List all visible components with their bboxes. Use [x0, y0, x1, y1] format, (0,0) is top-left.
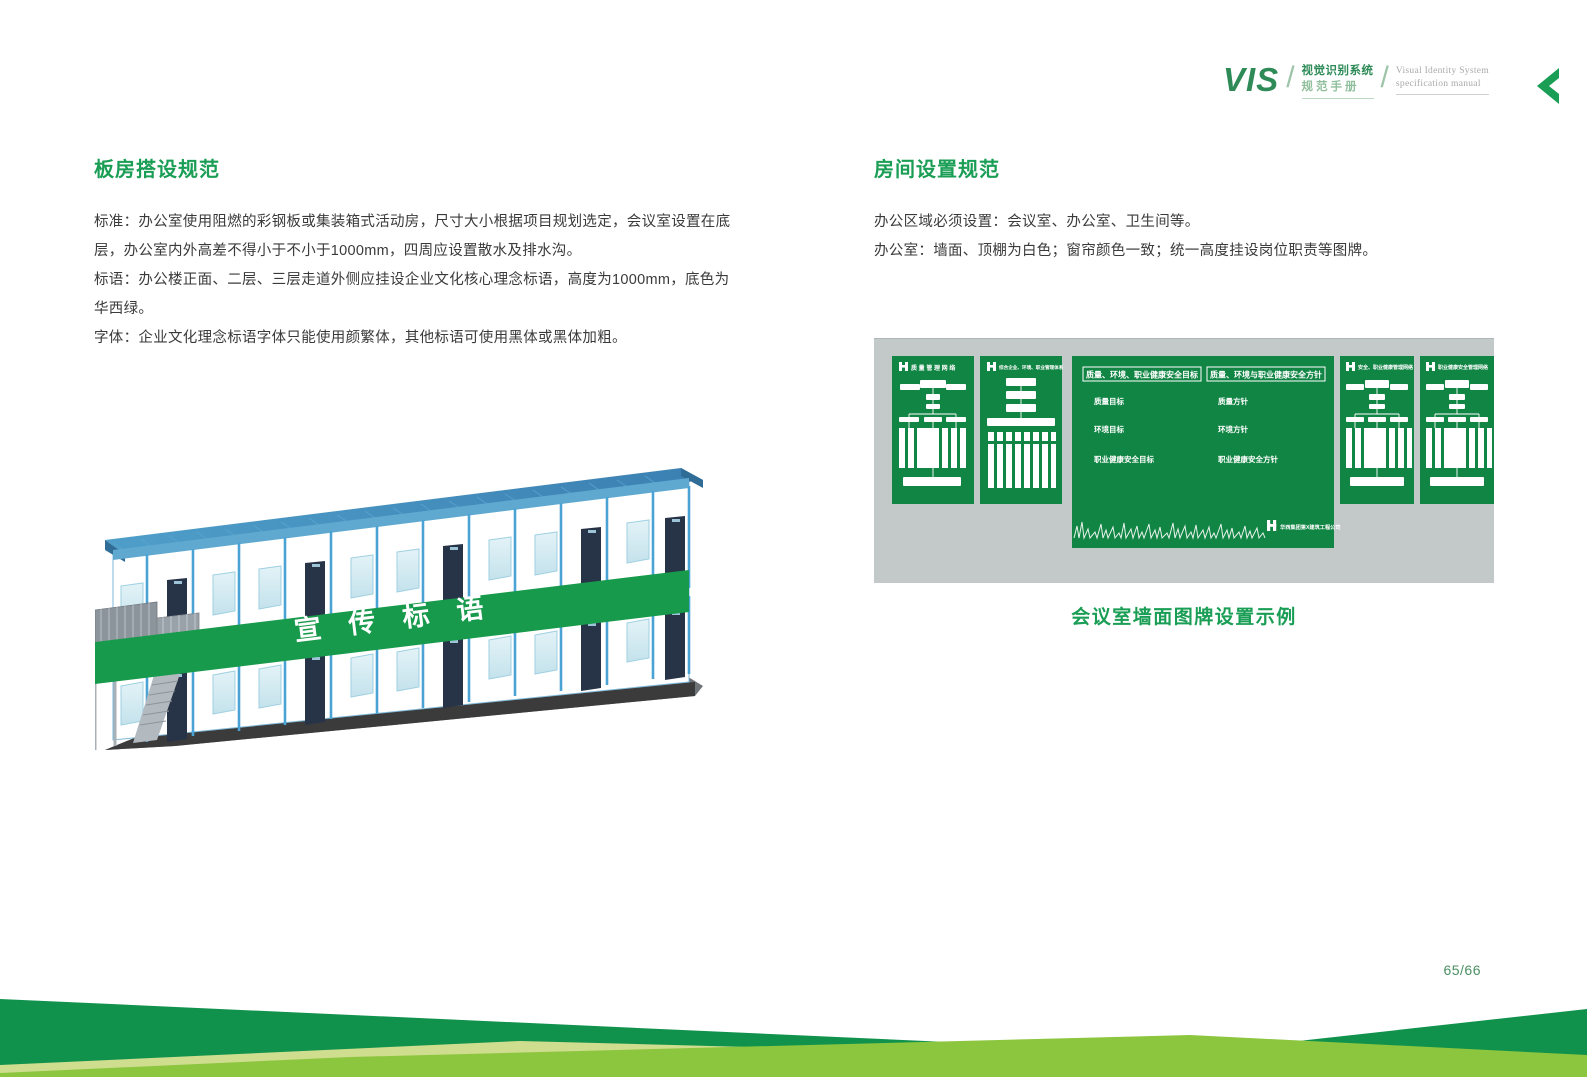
- prefab-office-building-illustration: 宣 传 标 语: [95, 450, 725, 780]
- header-en-line1: Visual Identity System: [1396, 65, 1489, 77]
- right-paragraph-2: 办公室：墙面、顶棚为白色；窗帘颜色一致；统一高度挂设岗位职责等图牌。: [874, 237, 1494, 266]
- meeting-room-wall-scene: 质 量 管 理 网 络: [874, 338, 1494, 583]
- header-slash-2: /: [1381, 58, 1389, 93]
- header-cn-line1: 视觉识别系统: [1302, 64, 1374, 78]
- main-board-item-left-2: 环境目标: [1094, 424, 1124, 434]
- page-number: 65/66: [1443, 962, 1481, 978]
- board-objectives-policy: 质量、环境、职业健康安全目标 质量、环境与职业健康安全方针 质量目标 环境目标 …: [1072, 356, 1341, 548]
- page-title-right: 房间设置规范: [874, 158, 1494, 182]
- svg-text:安全、职业健康管理网络: 安全、职业健康管理网络: [1358, 364, 1413, 371]
- header-brand: VIS / 视觉识别系统 规范手册 / Visual Identity Syst…: [1223, 58, 1559, 111]
- main-board-item-right-1: 质量方针: [1218, 396, 1248, 406]
- main-board-item-left-1: 质量目标: [1094, 396, 1124, 406]
- right-column: 房间设置规范 办公区域必须设置：会议室、办公室、卫生间等。 办公室：墙面、顶棚为…: [874, 158, 1494, 266]
- vis-wordmark: VIS: [1223, 58, 1279, 96]
- main-board-item-left-3: 职业健康安全目标: [1094, 454, 1154, 464]
- page-root: VIS / 视觉识别系统 规范手册 / Visual Identity Syst…: [0, 0, 1587, 1077]
- left-column: 板房搭设规范 标准：办公室使用阻燃的彩钢板或集装箱式活动房，尺寸大小根据项目规划…: [94, 158, 734, 353]
- board-occupational-health-network: 职业健康安全管理网络: [1420, 356, 1494, 504]
- main-board-heading-right: 质量、环境与职业健康安全方针: [1210, 370, 1322, 380]
- svg-text:综合企业、环境、职业管理体系: 综合企业、环境、职业管理体系: [999, 364, 1064, 371]
- left-paragraph-2: 标语：办公楼正面、二层、三层走道外侧应挂设企业文化核心理念标语，高度为1000m…: [94, 266, 734, 324]
- svg-text:职业健康安全管理网络: 职业健康安全管理网络: [1438, 364, 1488, 371]
- page-title-left: 板房搭设规范: [94, 158, 734, 182]
- left-paragraph-3: 字体：企业文化理念标语字体只能使用颜繁体，其他标语可使用黑体或黑体加粗。: [94, 324, 734, 353]
- header-en-line2: specification manual: [1396, 78, 1489, 94]
- board-company-name: 华西集团第X建筑工程公司: [1280, 523, 1341, 531]
- right-body-text: 办公区域必须设置：会议室、办公室、卫生间等。 办公室：墙面、顶棚为白色；窗帘颜色…: [874, 208, 1494, 266]
- left-paragraph-1: 标准：办公室使用阻燃的彩钢板或集装箱式活动房，尺寸大小根据项目规划选定，会议室设…: [94, 208, 734, 266]
- board-quality-network: 质 量 管 理 网 络: [892, 356, 974, 504]
- chevron-left-icon: [1515, 58, 1559, 111]
- header-slash-1: /: [1286, 58, 1294, 93]
- header-chinese-title: 视觉识别系统 规范手册: [1302, 58, 1374, 99]
- board-env-safety-system: 综合企业、环境、职业管理体系: [980, 356, 1064, 504]
- right-paragraph-1: 办公区域必须设置：会议室、办公室、卫生间等。: [874, 208, 1494, 237]
- main-board-item-right-2: 环境方针: [1218, 424, 1248, 434]
- header-english-title: Visual Identity System specification man…: [1396, 58, 1489, 95]
- board-occupational-safety-network: 安全、职业健康管理网络: [1340, 356, 1414, 504]
- main-board-item-right-3: 职业健康安全方针: [1218, 454, 1278, 464]
- svg-text:质 量 管 理 网 络: 质 量 管 理 网 络: [911, 364, 955, 372]
- footer-decoration: [0, 977, 1587, 1077]
- main-board-heading-left: 质量、环境、职业健康安全目标: [1086, 370, 1198, 380]
- header-cn-line2: 规范手册: [1302, 80, 1374, 98]
- scene-caption: 会议室墙面图牌设置示例: [874, 602, 1494, 629]
- left-body-text: 标准：办公室使用阻燃的彩钢板或集装箱式活动房，尺寸大小根据项目规划选定，会议室设…: [94, 208, 734, 353]
